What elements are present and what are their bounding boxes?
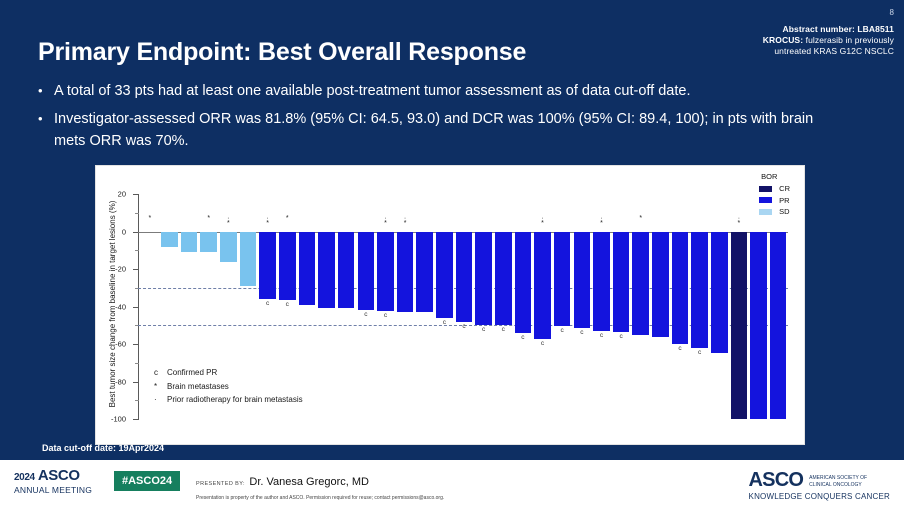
bar-top-marker: ·*	[376, 216, 396, 226]
asco-right-wordmark: ASCO	[749, 470, 804, 490]
bar-bottom-marker: c	[474, 326, 494, 333]
bar-slot: *	[631, 194, 651, 419]
bar-slot: c	[454, 194, 474, 419]
bar-bottom-marker: c	[552, 327, 572, 334]
y-axis-tick-label: -60	[115, 340, 126, 349]
y-axis-tick-label: -20	[115, 265, 126, 274]
bar-top-marker: ·*	[533, 216, 553, 226]
waterfall-bar	[770, 232, 786, 420]
bar-bottom-marker: c	[356, 311, 376, 318]
waterfall-bar	[593, 232, 609, 331]
bar-top-marker: *	[140, 216, 160, 221]
bar-slot: c	[670, 194, 690, 419]
y-axis-tick: 20	[133, 194, 139, 195]
list-item: • A total of 33 pts had at least one ava…	[38, 80, 848, 102]
footnote-symbol: *	[154, 380, 167, 394]
bar-slot: c	[611, 194, 631, 419]
bullet-marker: •	[38, 80, 54, 102]
bar-bottom-marker: c	[258, 300, 278, 307]
bar-top-marker: *	[277, 216, 297, 221]
waterfall-bar	[161, 232, 177, 247]
bar-slot	[317, 194, 337, 419]
slide-footer: 2024 ASCO ANNUAL MEETING #ASCO24 PRESENT…	[0, 460, 904, 508]
bar-slot	[768, 194, 788, 419]
bar-slot: ·*c	[533, 194, 553, 419]
y-axis-tick-label: -80	[115, 377, 126, 386]
bar-bottom-marker: c	[533, 340, 553, 347]
bar-slot: c	[513, 194, 533, 419]
footnote-confirmed-pr: c Confirmed PR	[154, 366, 303, 380]
waterfall-bar	[475, 232, 491, 326]
bar-bottom-marker: c	[690, 349, 710, 356]
slide: 8 Abstract number: LBA8511 KROCUS: fulze…	[0, 0, 904, 508]
bullet-marker: •	[38, 108, 54, 130]
footnote-prior-radiotherapy: · Prior radiotherapy for brain metastasi…	[154, 393, 303, 407]
asco-meeting-logo: 2024 ASCO ANNUAL MEETING	[14, 470, 92, 496]
bar-bottom-marker: c	[454, 323, 474, 330]
legend-item-cr: CR	[759, 184, 790, 193]
bar-top-marker: ·*	[258, 216, 278, 226]
waterfall-bar	[259, 232, 275, 300]
waterfall-bar	[534, 232, 550, 340]
bar-bottom-marker: c	[277, 301, 297, 308]
waterfall-bar	[574, 232, 590, 329]
y-axis-tick: -60	[133, 344, 139, 345]
y-axis-tick-label: 0	[122, 227, 126, 236]
waterfall-bar	[436, 232, 452, 318]
waterfall-bar	[318, 232, 334, 309]
asco-society-line1: AMERICAN SOCIETY OF	[809, 475, 867, 481]
bar-bottom-marker: c	[572, 329, 592, 336]
hashtag-badge: #ASCO24	[114, 471, 180, 491]
waterfall-bar	[338, 232, 354, 309]
abstract-info: Abstract number: LBA8511 KROCUS: fulzera…	[763, 24, 894, 57]
waterfall-bar	[613, 232, 629, 332]
bar-slot: ·*	[729, 194, 749, 419]
bar-bottom-marker: c	[592, 332, 612, 339]
waterfall-bar	[652, 232, 668, 337]
waterfall-bar	[750, 232, 766, 420]
bar-top-marker: ·*	[592, 216, 612, 226]
bullet-text: A total of 33 pts had at least one avail…	[54, 80, 848, 102]
bar-top-marker: ·*	[395, 216, 415, 226]
waterfall-bar	[200, 232, 216, 253]
asco-year: 2024	[14, 472, 35, 483]
waterfall-bar	[515, 232, 531, 333]
legend-title: BOR	[759, 172, 790, 181]
bullet-text: Investigator-assessed ORR was 81.8% (95%…	[54, 108, 848, 152]
waterfall-bar	[456, 232, 472, 322]
bar-top-marker: *	[199, 216, 219, 221]
waterfall-bar	[377, 232, 393, 312]
y-axis-minor-tick	[135, 400, 139, 401]
y-axis-tick: -40	[133, 307, 139, 308]
waterfall-bar	[416, 232, 432, 313]
bar-slot: ·*c	[592, 194, 612, 419]
footnote-symbol: ·	[154, 393, 167, 407]
bar-bottom-marker: c	[376, 312, 396, 319]
waterfall-bar	[495, 232, 511, 326]
waterfall-bar	[672, 232, 688, 345]
legend-swatch-cr	[759, 186, 772, 192]
waterfall-bar	[299, 232, 315, 305]
footnote-text: Confirmed PR	[167, 366, 217, 380]
y-axis-tick: -100	[133, 419, 139, 420]
waterfall-bar	[279, 232, 295, 300]
presented-by-label: PRESENTED BY:	[196, 481, 245, 487]
y-axis-tick-label: -100	[111, 415, 126, 424]
y-axis-tick: -80	[133, 382, 139, 383]
waterfall-bar	[181, 232, 197, 253]
bar-bottom-marker: c	[435, 319, 455, 326]
slide-number: 8	[890, 8, 894, 17]
footnote-symbol: c	[154, 366, 167, 380]
waterfall-chart: Best tumor size change from baseline in …	[95, 165, 805, 445]
y-axis-tick-label: 20	[118, 190, 126, 199]
waterfall-bar	[240, 232, 256, 286]
footnote-text: Brain metastases	[167, 380, 229, 394]
bar-slot: c	[690, 194, 710, 419]
asco-wordmark: ASCO	[38, 467, 80, 484]
waterfall-bar	[358, 232, 374, 311]
y-axis-minor-tick	[135, 363, 139, 364]
waterfall-bar	[691, 232, 707, 348]
waterfall-bar	[711, 232, 727, 354]
bar-bottom-marker: c	[493, 326, 513, 333]
y-axis-minor-tick	[135, 250, 139, 251]
waterfall-bar	[632, 232, 648, 335]
asco-society-line2: CLINICAL ONCOLOGY	[809, 482, 862, 488]
waterfall-bar	[220, 232, 236, 262]
bar-top-marker: ·*	[219, 216, 239, 226]
presenter-block: PRESENTED BY: Dr. Vanesa Gregorc, MD Pre…	[196, 472, 444, 501]
data-cutoff-label: Data cut-off date: 19Apr2024	[42, 443, 164, 453]
abstract-number: Abstract number: LBA8511	[763, 24, 894, 35]
study-line-2: untreated KRAS G12C NSCLC	[763, 46, 894, 57]
bar-slot: c	[572, 194, 592, 419]
presenter-name: Dr. Vanesa Gregorc, MD	[249, 476, 369, 488]
bar-top-marker: *	[631, 216, 651, 221]
chart-footnotes: c Confirmed PR * Brain metastases · Prio…	[154, 366, 303, 407]
y-axis-tick: -20	[133, 269, 139, 270]
y-axis-tick-label: -40	[115, 302, 126, 311]
bar-slot: c	[474, 194, 494, 419]
list-item: • Investigator-assessed ORR was 81.8% (9…	[38, 108, 848, 152]
study-desc: fulzerasib in previously	[803, 35, 894, 45]
permission-note: Presentation is property of the author a…	[196, 495, 444, 501]
bar-slot	[749, 194, 769, 419]
bar-top-marker: ·*	[729, 216, 749, 226]
bar-slot	[415, 194, 435, 419]
bar-bottom-marker: c	[670, 345, 690, 352]
bar-slot: ·*	[395, 194, 415, 419]
asco-tagline: KNOWLEDGE CONQUERS CANCER	[749, 492, 890, 501]
bar-slot: c	[356, 194, 376, 419]
bar-slot	[709, 194, 729, 419]
asco-society-logo: ASCO AMERICAN SOCIETY OF CLINICAL ONCOLO…	[749, 470, 890, 501]
study-name: KROCUS:	[763, 35, 803, 45]
bar-slot	[651, 194, 671, 419]
waterfall-bar	[554, 232, 570, 327]
bar-slot: c	[493, 194, 513, 419]
y-axis-minor-tick	[135, 213, 139, 214]
page-title: Primary Endpoint: Best Overall Response	[38, 38, 526, 67]
waterfall-bar	[397, 232, 413, 313]
bar-slot: c	[435, 194, 455, 419]
asco-meeting-label: ANNUAL MEETING	[14, 484, 92, 496]
bar-bottom-marker: c	[611, 333, 631, 340]
footnote-brain-mets: * Brain metastases	[154, 380, 303, 394]
bar-slot	[336, 194, 356, 419]
asco-society-name: AMERICAN SOCIETY OF CLINICAL ONCOLOGY	[809, 475, 867, 488]
footnote-text: Prior radiotherapy for brain metastasis	[167, 393, 303, 407]
bar-slot: ·*c	[376, 194, 396, 419]
bar-slot: c	[552, 194, 572, 419]
waterfall-bar	[731, 232, 747, 420]
study-line-1: KROCUS: fulzerasib in previously	[763, 35, 894, 46]
bullet-list: • A total of 33 pts had at least one ava…	[38, 80, 848, 158]
legend-label-cr: CR	[779, 184, 790, 193]
bar-bottom-marker: c	[513, 334, 533, 341]
